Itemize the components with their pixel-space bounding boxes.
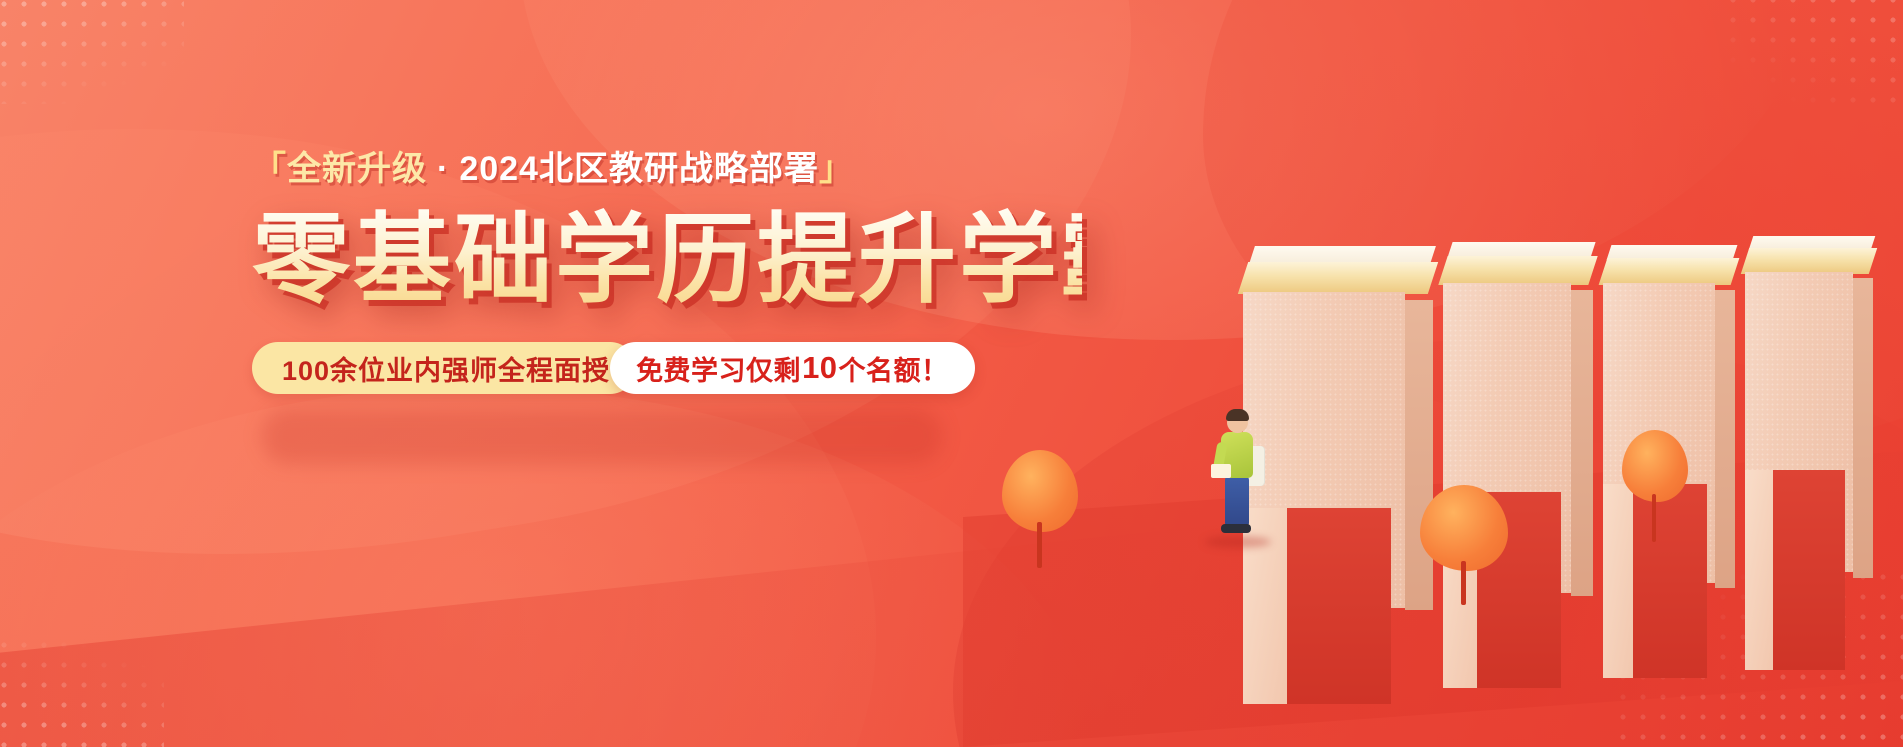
teachers-pill[interactable]: 100余位业内强师全程面授 (252, 342, 636, 394)
tree-trunk (1652, 494, 1656, 542)
book-side-face (1853, 278, 1873, 578)
bracket-open-icon: 「 (252, 150, 287, 188)
dot-pattern-top-left (0, 0, 184, 104)
student-figure (1209, 412, 1267, 544)
tree-trunk (1037, 522, 1042, 568)
pill-drop-shadow (262, 408, 942, 464)
book-top-edge (1238, 262, 1438, 294)
tree-crown (1002, 450, 1078, 532)
banner-copy: 「全新升级·2024北区教研战略部署」 零基础学历提升学霸班 100余位业内强师… (252, 148, 1082, 394)
book-top-edge (1599, 258, 1740, 285)
tree-left (1002, 450, 1078, 568)
arch-opening (1771, 470, 1845, 670)
subtitle-rest: 2024北区教研战略部署 (459, 150, 819, 188)
tree-crown (1420, 485, 1508, 571)
pill-row: 100余位业内强师全程面授 免费学习仅剩10个名额！ (252, 342, 1082, 394)
quota-suffix: 个名额！ (839, 349, 949, 388)
book-side-face (1715, 290, 1735, 588)
banner-subtitle: 「全新升级·2024北区教研战略部署」 (252, 148, 1082, 191)
figure-hair (1226, 409, 1249, 421)
book-arches-illustration (1003, 0, 1903, 747)
book-top-edge (1438, 256, 1597, 285)
figure-legs (1225, 476, 1249, 526)
tree-trunk (1461, 561, 1466, 605)
arch-leg (1745, 470, 1773, 670)
teachers-pill-label: 100余位业内强师全程面授 (282, 349, 610, 388)
tree-right (1622, 430, 1688, 542)
quota-number: 10 (801, 350, 838, 386)
book-side-face (1571, 290, 1593, 596)
book-arch-2 (1443, 256, 1593, 686)
figure-shoes (1221, 524, 1251, 533)
book-top-edge (1741, 248, 1877, 274)
arch-opening (1285, 508, 1391, 704)
separator-dot-icon: · (427, 150, 459, 188)
bracket-close-icon: 」 (819, 150, 854, 188)
book-arch-1 (1243, 262, 1433, 702)
quota-prefix: 免费学习仅剩 (636, 349, 801, 388)
quota-pill[interactable]: 免费学习仅剩10个名额！ (610, 342, 974, 394)
tree-crown (1622, 430, 1688, 502)
book-arch-4 (1745, 248, 1873, 668)
tree-middle (1420, 485, 1508, 605)
held-book (1211, 464, 1231, 478)
page-title: 零基础学历提升学霸班 (252, 207, 1082, 313)
subtitle-highlight: 全新升级 (287, 150, 427, 188)
figure-shadow (1205, 536, 1271, 548)
promo-banner: 「全新升级·2024北区教研战略部署」 零基础学历提升学霸班 100余位业内强师… (0, 0, 1903, 747)
